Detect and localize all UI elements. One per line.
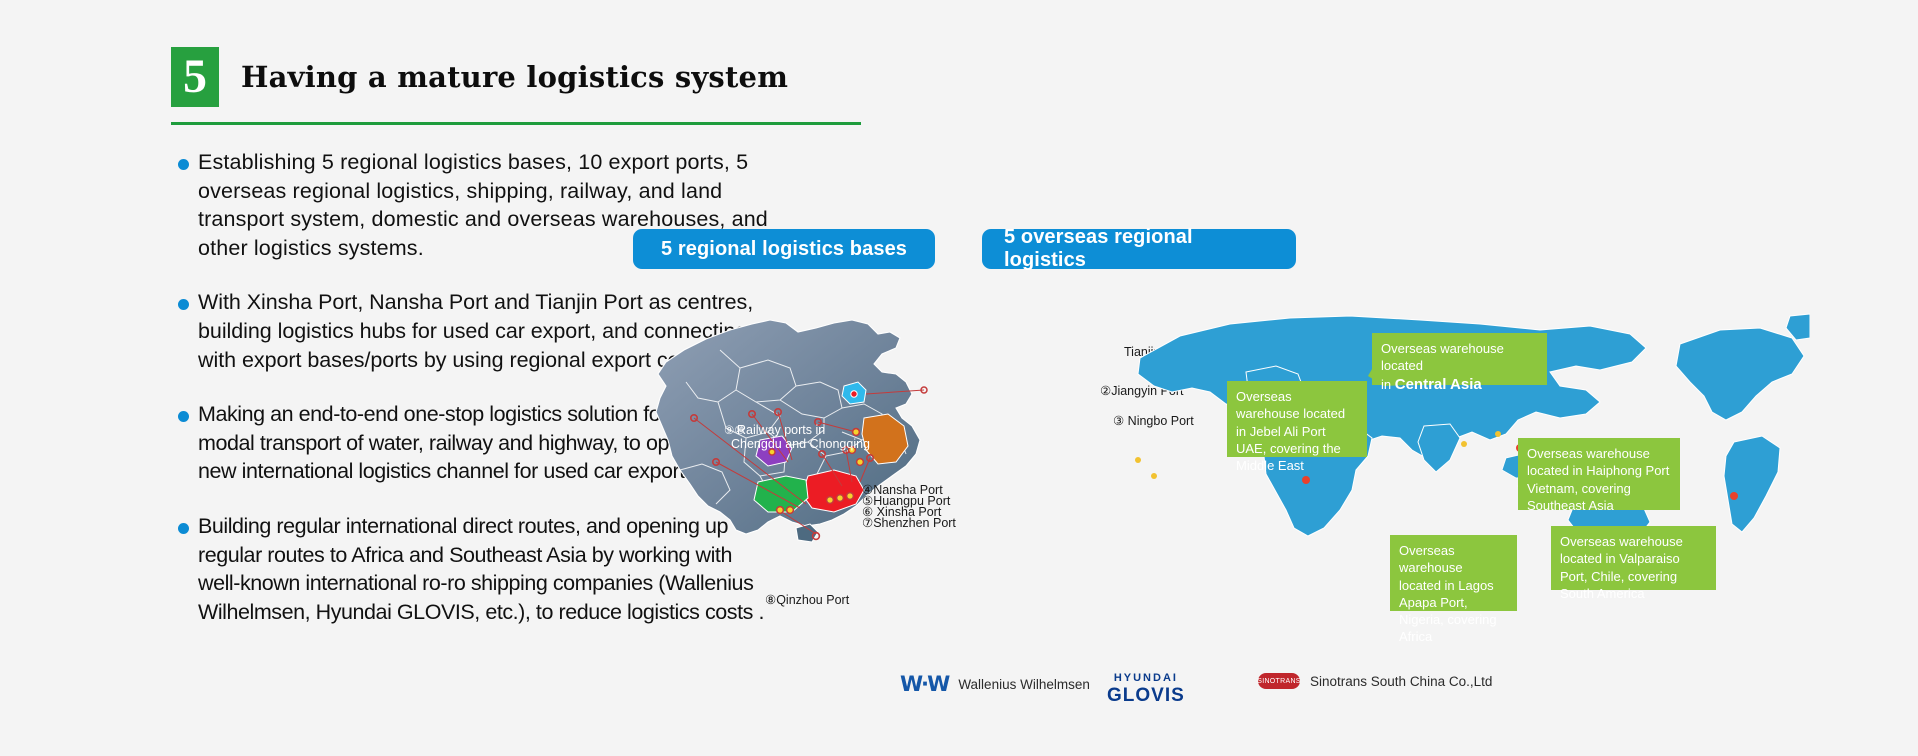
heading-underline — [171, 122, 861, 125]
continent-india — [1418, 424, 1460, 472]
badge-regional-logistics-bases: 5 regional logistics bases — [633, 229, 935, 269]
sinotrans-mark-icon: SINOTRANS — [1258, 673, 1300, 689]
callout-valparaiso: Overseas warehouse located in Valparaiso… — [1551, 526, 1716, 590]
bullet-dot-icon — [178, 411, 189, 422]
bullet-dot-icon — [178, 299, 189, 310]
callout-haiphong: Overseas warehouse located in Haiphong P… — [1518, 438, 1680, 510]
bullet-dot-icon — [178, 523, 189, 534]
callout-jebel-ali: Overseas warehouse located in Jebel Ali … — [1227, 381, 1367, 457]
callout-central-asia: Overseas warehouse located in Central As… — [1372, 333, 1547, 385]
map-label-qinzhou-port: ⑧Qinzhou Port — [765, 592, 849, 607]
callout-central-asia-prefix: Overseas warehouse located — [1381, 341, 1504, 373]
logo-sinotrans: SINOTRANS Sinotrans South China Co.,Ltd — [1258, 673, 1492, 689]
bullet-dot-icon — [178, 159, 189, 170]
map-label-railway-line2: Chengdu and Chongqing — [731, 437, 870, 451]
continent-greenland — [1786, 314, 1810, 340]
continent-north-america — [1676, 328, 1804, 420]
callout-central-asia-in: in — [1381, 377, 1395, 392]
page-title: Having a mature logistics system — [241, 60, 788, 94]
map-label-railway-line1: Railway ports in — [737, 423, 825, 437]
callout-lagos-apapa: Overseas warehouse located in Lagos Apap… — [1390, 535, 1517, 611]
slide-root: 5 Having a mature logistics system Estab… — [0, 0, 1918, 756]
glovis-top-text: HYUNDAI — [1114, 672, 1178, 684]
map-label-shenzhen-port: ⑦Shenzhen Port — [862, 515, 956, 530]
callout-central-asia-region: Central Asia — [1395, 376, 1482, 393]
wallenius-caption: Wallenius Wilhelmsen — [958, 677, 1090, 692]
partner-logos: W∙W Wallenius Wilhelmsen HYUNDAI GLOVIS … — [900, 668, 1520, 708]
section-number-badge: 5 — [171, 47, 219, 107]
badge-overseas-regional-logistics: 5 overseas regional logistics — [982, 229, 1296, 269]
logo-wallenius-wilhelmsen: W∙W Wallenius Wilhelmsen — [900, 672, 1090, 696]
continent-south-america — [1724, 436, 1780, 532]
sinotrans-caption: Sinotrans South China Co.,Ltd — [1310, 674, 1492, 689]
wallenius-mark-icon: W∙W — [900, 672, 948, 696]
slide-heading: 5 Having a mature logistics system — [171, 47, 788, 107]
glovis-bottom-text: GLOVIS — [1107, 685, 1185, 706]
logo-hyundai-glovis: HYUNDAI GLOVIS — [1107, 668, 1185, 706]
